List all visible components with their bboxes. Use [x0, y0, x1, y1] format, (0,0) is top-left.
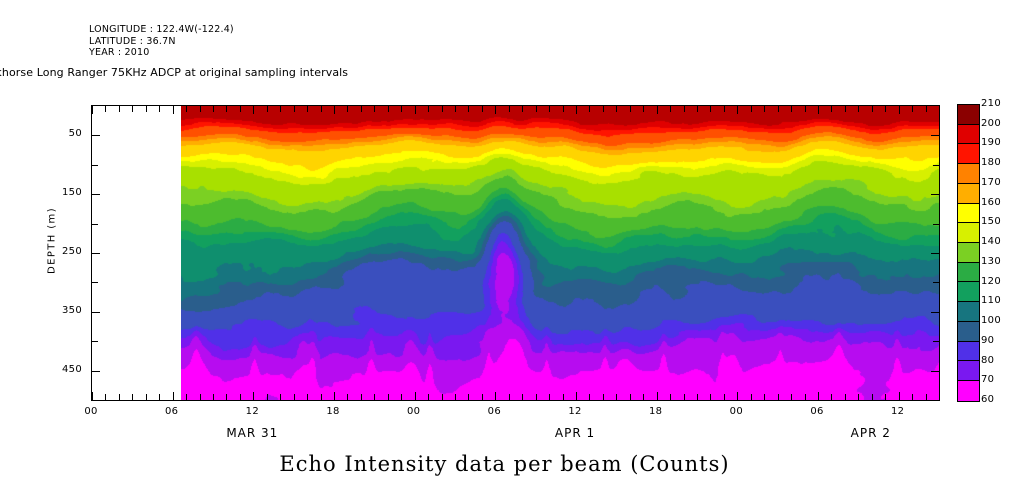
axis-tick [912, 106, 913, 112]
axis-tick [931, 312, 939, 313]
axis-tick [374, 394, 375, 400]
axis-tick [119, 106, 120, 112]
axis-tick [92, 341, 98, 342]
axis-tick [858, 394, 859, 400]
axis-tick [267, 394, 268, 400]
axis-tick [226, 106, 227, 112]
axis-tick [105, 394, 106, 400]
axis-tick [657, 106, 658, 114]
x-day-label: APR 1 [515, 426, 635, 440]
x-tick-label: 06 [152, 406, 192, 417]
x-tick-label: 00 [716, 406, 756, 417]
y-axis-title: DEPTH (m) [47, 181, 58, 301]
colorbar [957, 104, 980, 402]
axis-tick [589, 394, 590, 400]
axis-tick [92, 165, 98, 166]
axis-tick [522, 394, 523, 400]
colorbar-swatch [958, 361, 979, 381]
axis-tick [280, 106, 281, 112]
colorbar-swatch [958, 302, 979, 322]
colorbar-swatch [958, 144, 979, 164]
axis-tick [858, 106, 859, 112]
axis-tick [428, 106, 429, 112]
colorbar-tick-label: 100 [981, 315, 1001, 326]
axis-tick [576, 392, 577, 400]
x-day-label: APR 2 [811, 426, 931, 440]
axis-tick [240, 394, 241, 400]
colorbar-tick-label: 150 [981, 216, 1001, 227]
axis-tick [670, 106, 671, 112]
colorbar-swatch [958, 184, 979, 204]
axis-tick [630, 394, 631, 400]
axis-tick [724, 106, 725, 112]
axis-tick [253, 106, 254, 114]
axis-tick [307, 394, 308, 400]
axis-tick [401, 106, 402, 112]
chart-caption: Echo Intensity data per beam (Counts) [0, 452, 1009, 476]
axis-tick [710, 106, 711, 112]
axis-tick [643, 106, 644, 112]
colorbar-swatch [958, 204, 979, 224]
axis-tick [347, 106, 348, 112]
axis-tick [764, 394, 765, 400]
axis-tick [468, 106, 469, 112]
axis-tick [737, 392, 738, 400]
colorbar-swatch [958, 263, 979, 283]
axis-tick [549, 394, 550, 400]
axis-tick [939, 106, 940, 112]
axis-tick [226, 394, 227, 400]
axis-tick [401, 394, 402, 400]
x-tick-label: 12 [555, 406, 595, 417]
colorbar-tick-label: 210 [981, 98, 1001, 109]
colorbar-swatch [958, 125, 979, 145]
axis-tick [455, 106, 456, 112]
colorbar-tick-label: 180 [981, 157, 1001, 168]
colorbar-swatch [958, 381, 979, 401]
axis-tick [495, 392, 496, 400]
axis-tick [159, 394, 160, 400]
axis-tick [294, 106, 295, 112]
axis-tick [321, 106, 322, 112]
axis-tick [334, 106, 335, 114]
axis-tick [132, 106, 133, 112]
axis-tick [563, 394, 564, 400]
colorbar-tick-label: 160 [981, 197, 1001, 208]
axis-tick [931, 194, 939, 195]
axis-tick [509, 394, 510, 400]
axis-tick [872, 394, 873, 400]
axis-tick [885, 106, 886, 112]
x-tick-label: 12 [878, 406, 918, 417]
axis-tick [818, 106, 819, 114]
chart-title: Mooring M2 - April 2009 data from MBARI … [0, 66, 1009, 79]
axis-tick [294, 394, 295, 400]
axis-tick [92, 392, 93, 400]
axis-tick [361, 106, 362, 112]
axis-tick [933, 341, 939, 342]
axis-tick [280, 394, 281, 400]
axis-tick [845, 106, 846, 112]
axis-tick [791, 106, 792, 112]
axis-tick [778, 106, 779, 112]
colorbar-tick-label: 190 [981, 137, 1001, 148]
axis-tick [482, 394, 483, 400]
plot-area [91, 105, 940, 401]
colorbar-tick-label: 170 [981, 177, 1001, 188]
axis-tick [442, 394, 443, 400]
axis-tick [899, 106, 900, 114]
y-tick-label: 50 [42, 128, 82, 139]
axis-tick [213, 394, 214, 400]
axis-tick [442, 106, 443, 112]
chart-title-text: Mooring M2 - April 2009 data from MBARI … [0, 66, 348, 79]
axis-tick [603, 106, 604, 112]
axis-tick [657, 392, 658, 400]
axis-tick [253, 392, 254, 400]
x-tick-label: 06 [797, 406, 837, 417]
axis-tick [92, 106, 93, 114]
axis-tick [939, 394, 940, 400]
colorbar-tick-label: 110 [981, 295, 1001, 306]
axis-tick [805, 394, 806, 400]
axis-tick [388, 106, 389, 112]
axis-tick [697, 106, 698, 112]
axis-tick [697, 394, 698, 400]
axis-tick [267, 106, 268, 112]
axis-tick [931, 135, 939, 136]
colorbar-tick-label: 130 [981, 256, 1001, 267]
axis-tick [791, 394, 792, 400]
axis-tick [132, 394, 133, 400]
colorbar-swatch [958, 223, 979, 243]
heatmap-field [181, 106, 940, 400]
axis-tick [105, 106, 106, 112]
axis-tick [589, 106, 590, 112]
axis-tick [509, 106, 510, 112]
axis-tick [468, 394, 469, 400]
axis-tick [92, 224, 98, 225]
axis-tick [173, 392, 174, 400]
axis-tick [92, 194, 100, 195]
axis-tick [213, 106, 214, 112]
axis-tick [482, 106, 483, 112]
axis-tick [92, 312, 100, 313]
x-tick-label: 00 [394, 406, 434, 417]
axis-tick [173, 106, 174, 114]
axis-tick [710, 394, 711, 400]
colorbar-tick-label: 90 [981, 335, 994, 346]
latitude-text: LATITUDE : 36.7N [89, 36, 234, 48]
colorbar-tick-label: 60 [981, 394, 994, 405]
axis-tick [933, 224, 939, 225]
axis-tick [347, 394, 348, 400]
axis-tick [146, 106, 147, 112]
axis-tick [186, 394, 187, 400]
colorbar-swatch [958, 342, 979, 362]
axis-tick [415, 106, 416, 114]
axis-tick [374, 106, 375, 112]
colorbar-swatch [958, 322, 979, 342]
axis-tick [92, 135, 100, 136]
x-day-label: MAR 31 [192, 426, 312, 440]
axis-tick [684, 394, 685, 400]
x-tick-label: 18 [636, 406, 676, 417]
y-tick-label: 250 [42, 246, 82, 257]
axis-tick [334, 392, 335, 400]
axis-tick [912, 394, 913, 400]
colorbar-tick-label: 140 [981, 236, 1001, 247]
axis-tick [670, 394, 671, 400]
axis-tick [751, 106, 752, 112]
axis-tick [616, 106, 617, 112]
axis-tick [200, 394, 201, 400]
axis-tick [630, 106, 631, 112]
axis-tick [186, 106, 187, 112]
axis-tick [536, 106, 537, 112]
axis-tick [818, 392, 819, 400]
axis-tick [926, 106, 927, 112]
axis-tick [931, 371, 939, 372]
axis-tick [831, 106, 832, 112]
axis-tick [926, 394, 927, 400]
axis-tick [92, 253, 100, 254]
colorbar-swatch [958, 243, 979, 263]
axis-tick [321, 394, 322, 400]
longitude-text: LONGITUDE : 122.4W(-122.4) [89, 24, 234, 36]
axis-tick [307, 106, 308, 112]
colorbar-swatch [958, 105, 979, 125]
axis-tick [899, 392, 900, 400]
x-tick-label: 12 [232, 406, 272, 417]
colorbar-tick-label: 120 [981, 276, 1001, 287]
colorbar-swatch [958, 282, 979, 302]
y-tick-label: 350 [42, 305, 82, 316]
axis-tick [805, 106, 806, 112]
axis-tick [455, 394, 456, 400]
x-tick-label: 06 [474, 406, 514, 417]
axis-tick [200, 106, 201, 112]
axis-tick [549, 106, 550, 112]
axis-tick [415, 392, 416, 400]
axis-tick [92, 371, 100, 372]
axis-tick [92, 282, 98, 283]
axis-tick [146, 394, 147, 400]
axis-tick [831, 394, 832, 400]
axis-tick [931, 253, 939, 254]
colorbar-swatch [958, 164, 979, 184]
axis-tick [737, 106, 738, 114]
axis-tick [684, 106, 685, 112]
axis-tick [933, 165, 939, 166]
axis-tick [764, 106, 765, 112]
axis-tick [603, 394, 604, 400]
axis-tick [495, 106, 496, 114]
axis-tick [159, 106, 160, 112]
x-tick-label: 00 [71, 406, 111, 417]
axis-tick [388, 394, 389, 400]
station-metadata: LONGITUDE : 122.4W(-122.4) LATITUDE : 36… [89, 24, 234, 59]
axis-tick [845, 394, 846, 400]
axis-tick [522, 106, 523, 112]
axis-tick [933, 282, 939, 283]
axis-tick [778, 394, 779, 400]
axis-tick [119, 394, 120, 400]
colorbar-tick-label: 70 [981, 374, 994, 385]
axis-tick [536, 394, 537, 400]
axis-tick [643, 394, 644, 400]
year-text: YEAR : 2010 [89, 47, 234, 59]
axis-tick [563, 106, 564, 112]
colorbar-tick-label: 80 [981, 355, 994, 366]
axis-tick [872, 106, 873, 112]
axis-tick [724, 394, 725, 400]
axis-tick [616, 394, 617, 400]
colorbar-tick-label: 200 [981, 118, 1001, 129]
axis-tick [240, 106, 241, 112]
y-tick-label: 150 [42, 187, 82, 198]
axis-tick [361, 394, 362, 400]
axis-tick [428, 394, 429, 400]
axis-tick [751, 394, 752, 400]
x-tick-label: 18 [313, 406, 353, 417]
axis-tick [885, 394, 886, 400]
y-tick-label: 450 [42, 364, 82, 375]
axis-tick [576, 106, 577, 114]
